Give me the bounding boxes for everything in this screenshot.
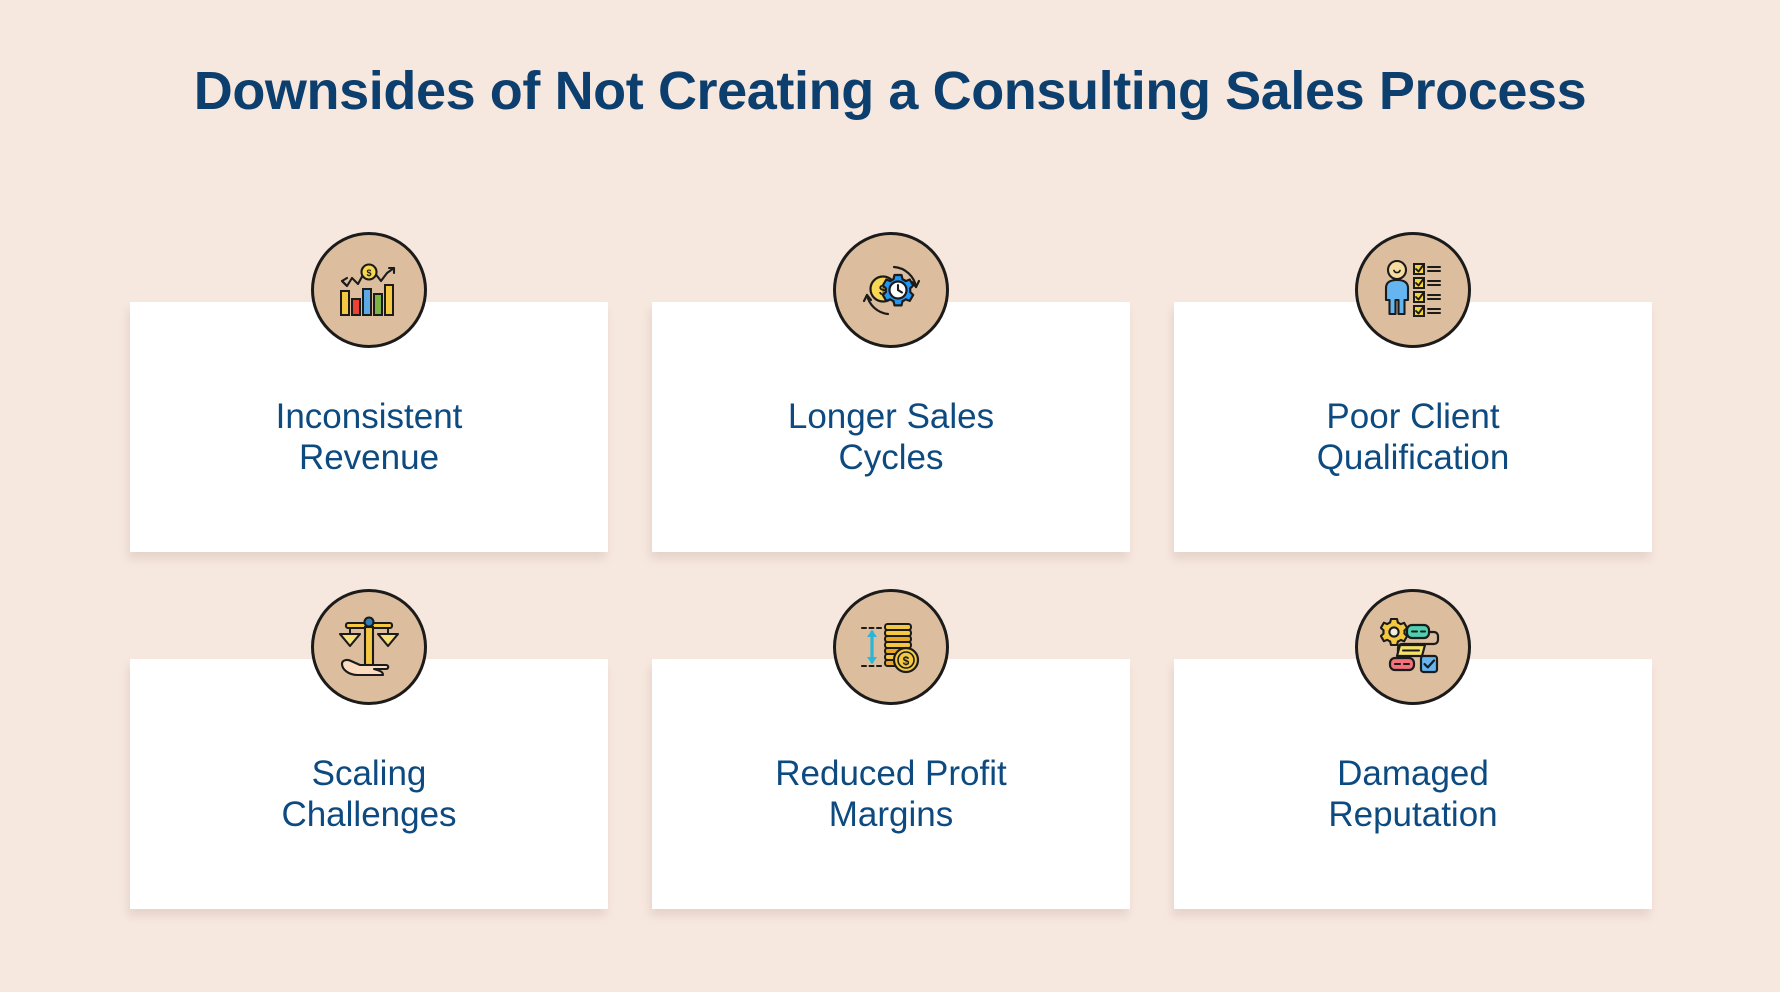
card-label: Poor Client Qualification	[1317, 397, 1510, 478]
card-cell: $ Inconsistent Revenue	[130, 232, 608, 552]
broken-workflow-process-icon	[1355, 589, 1471, 705]
svg-text:$: $	[366, 268, 371, 278]
card-cell: $ Reduced Profit Margins	[652, 589, 1130, 909]
card-cell: $ Longer Sales Cycles	[652, 232, 1130, 552]
person-checklist-icon	[1355, 232, 1471, 348]
fluctuating-bar-chart-dollar-icon: $	[311, 232, 427, 348]
card-label: Scaling Challenges	[281, 754, 456, 835]
card-label: Damaged Reputation	[1328, 754, 1497, 835]
card-cell: Poor Client Qualification	[1174, 232, 1652, 552]
dollar-coin-clock-gear-icon: $	[833, 232, 949, 348]
balance-scale-on-hand-icon	[311, 589, 427, 705]
card-label: Inconsistent Revenue	[276, 397, 463, 478]
page-title: Downsides of Not Creating a Consulting S…	[194, 62, 1586, 121]
coin-stack-measure-arrow-icon: $	[833, 589, 949, 705]
svg-text:$: $	[903, 654, 910, 668]
card-cell: Scaling Challenges	[130, 589, 608, 909]
infographic-page: Downsides of Not Creating a Consulting S…	[0, 0, 1780, 992]
card-cell: Damaged Reputation	[1174, 589, 1652, 909]
card-label: Reduced Profit Margins	[775, 754, 1007, 835]
card-label: Longer Sales Cycles	[788, 397, 994, 478]
cards-grid: $ Inconsistent Revenue	[130, 232, 1652, 909]
title-container: Downsides of Not Creating a Consulting S…	[0, 62, 1780, 121]
